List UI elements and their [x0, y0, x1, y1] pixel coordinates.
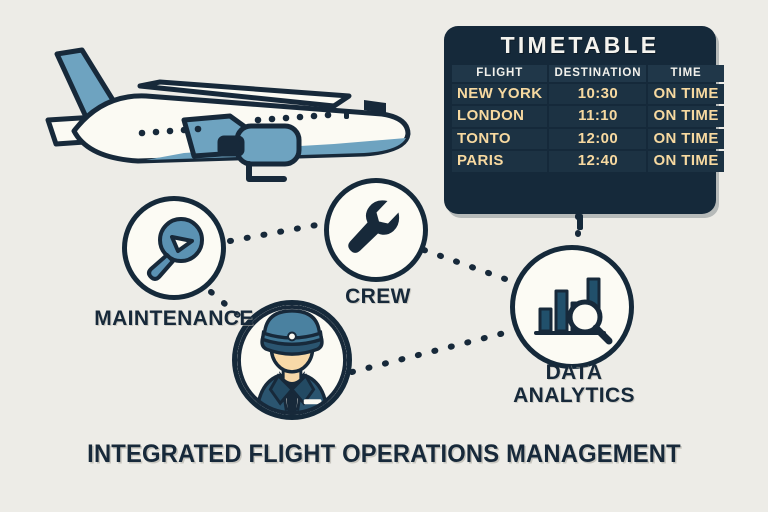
- node-analytics[interactable]: [510, 245, 634, 369]
- pilot-cap-emblem: [288, 333, 296, 341]
- column-header-flight: FLIGHT: [452, 65, 547, 82]
- column-header-time: TIME: [648, 65, 723, 82]
- wrench-icon: [343, 197, 409, 263]
- infographic-canvas: TIMETABLE FLIGHT DESTINATION TIME NEW YO…: [0, 0, 768, 512]
- cell-destination: 10:30: [549, 84, 646, 105]
- cell-flight: TONTO: [452, 129, 547, 150]
- cell-status: ON TIME: [648, 84, 723, 105]
- node-crew[interactable]: [324, 178, 428, 282]
- label-data-analytics: DATA ANALYTICS: [486, 362, 662, 407]
- cell-destination: 12:40: [549, 151, 646, 172]
- link-maintenance-crew: [230, 224, 322, 241]
- link-crew-analytics: [424, 250, 522, 285]
- cell-flight: PARIS: [452, 151, 547, 172]
- cell-status: ON TIME: [648, 151, 723, 172]
- bar-chart-magnifier-icon: [530, 265, 614, 349]
- cell-status: ON TIME: [648, 129, 723, 150]
- cell-status: ON TIME: [648, 106, 723, 127]
- magnifier-wrench-icon: [139, 213, 209, 283]
- table-row: TONTO 12:00 ON TIME: [452, 129, 724, 150]
- timetable-table: FLIGHT DESTINATION TIME NEW YORK 10:30 O…: [444, 63, 732, 180]
- board-stand-post: [577, 214, 583, 230]
- table-row: NEW YORK 10:30 ON TIME: [452, 84, 724, 105]
- cell-destination: 12:00: [549, 129, 646, 150]
- label-maintenance: MAINTENANCE: [78, 308, 270, 331]
- cell-destination: 11:10: [549, 106, 646, 127]
- magnifier-glass: [570, 302, 609, 341]
- table-row: PARIS 12:40 ON TIME: [452, 151, 724, 172]
- node-maintenance[interactable]: [122, 196, 226, 300]
- table-row: LONDON 11:10 ON TIME: [452, 106, 724, 127]
- wrench-shape: [348, 200, 399, 253]
- column-header-destination: DESTINATION: [549, 65, 646, 82]
- timetable-board: TIMETABLE FLIGHT DESTINATION TIME NEW YO…: [444, 26, 716, 214]
- label-data-analytics-line2: ANALYTICS: [486, 385, 662, 408]
- bar-2: [556, 291, 567, 331]
- label-data-analytics-line1: DATA: [486, 362, 662, 385]
- label-crew: CREW: [330, 286, 426, 309]
- cell-flight: LONDON: [452, 106, 547, 127]
- bar-1: [540, 309, 551, 331]
- timetable-header-row: FLIGHT DESTINATION TIME: [452, 65, 724, 82]
- page-title: INTEGRATED FLIGHT OPERATIONS MANAGEMENT: [19, 440, 749, 469]
- pilot-badge-bar: [304, 399, 322, 404]
- timetable-title: TIMETABLE: [444, 26, 716, 63]
- cell-flight: NEW YORK: [452, 84, 547, 105]
